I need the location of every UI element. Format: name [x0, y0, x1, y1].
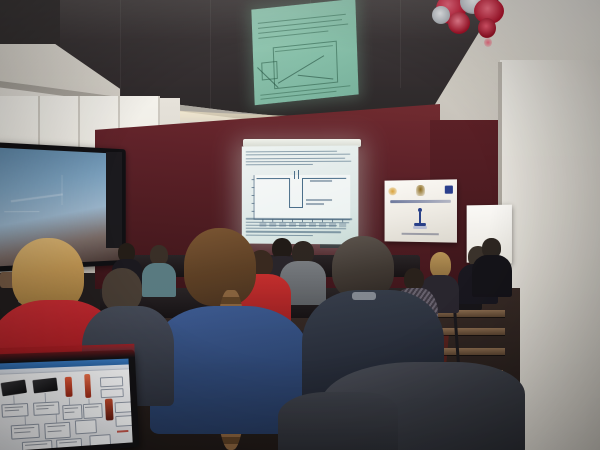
eagle-emblem-logo-icon: [416, 185, 425, 196]
diagram-node: [100, 376, 123, 387]
foreground-jacket-center: [278, 392, 398, 450]
event-banner: [385, 179, 457, 242]
slide-document: [246, 151, 355, 241]
banner-title-text: [390, 200, 451, 203]
red-cylinder-1-icon: [65, 377, 73, 397]
banner-subtitle-text: [402, 233, 439, 236]
diagram-node: [75, 419, 97, 434]
wall-panel-dark-left: [106, 152, 122, 248]
tank-unit-icon: [105, 399, 114, 421]
ribbon-logo-icon: [388, 187, 397, 195]
diagram-node: [100, 388, 123, 398]
lecture-hall-photo: [0, 0, 600, 450]
device-unit-1-icon: [1, 380, 27, 397]
square-logo-icon: [445, 186, 453, 194]
head: [404, 268, 424, 290]
connector: [13, 396, 14, 404]
torso: [142, 263, 176, 297]
projection-screen: [242, 145, 359, 244]
device-unit-2-icon: [32, 378, 57, 394]
connector: [25, 415, 26, 424]
accent-label: [117, 430, 128, 433]
blue-monument-emblem-icon: [413, 208, 427, 230]
slide-figure-chart: [254, 175, 351, 220]
torso: [472, 255, 512, 297]
laptop-screen[interactable]: [0, 359, 133, 450]
laptop-foreground[interactable]: [0, 350, 139, 450]
ceiling-slide-reflection: [251, 0, 358, 105]
head: [150, 245, 168, 265]
holiday-tinsel-garland: [430, 0, 550, 52]
diagram-node: [115, 401, 133, 413]
connector: [45, 393, 46, 402]
diagram-node: [115, 415, 132, 427]
shirt-collar: [352, 292, 376, 300]
connector: [56, 414, 57, 423]
red-cylinder-2-icon: [84, 374, 91, 398]
diagram-node: [83, 403, 103, 419]
head: [184, 228, 256, 306]
